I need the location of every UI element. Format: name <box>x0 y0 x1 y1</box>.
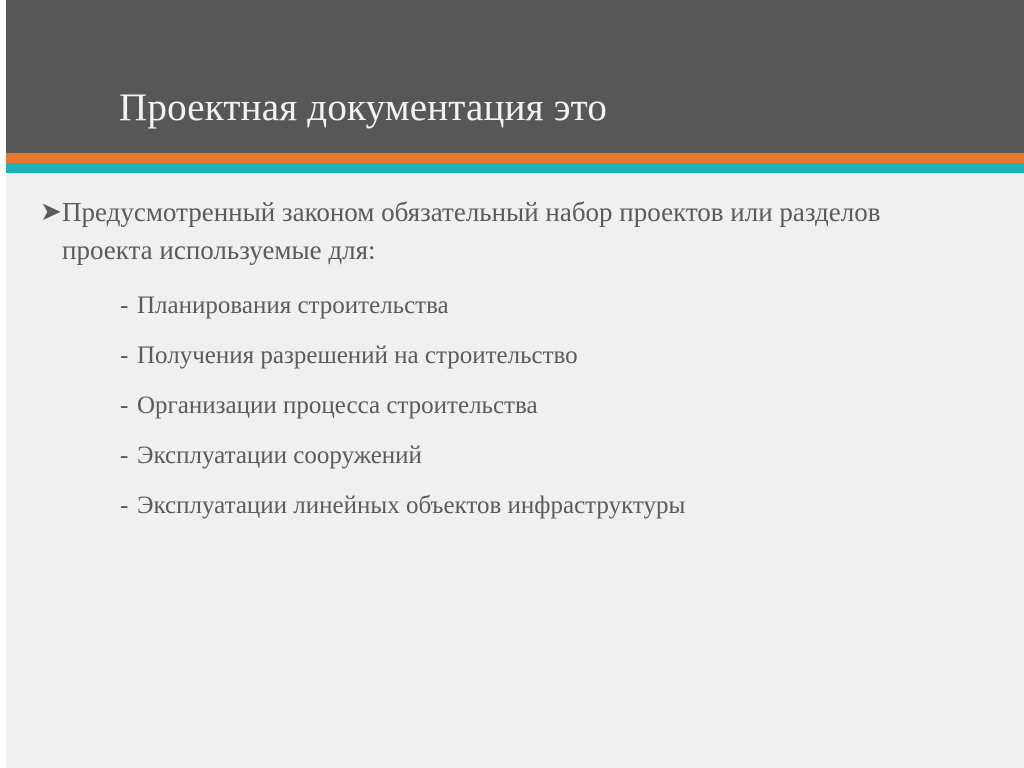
arrow-bullet-icon: ➤ <box>40 193 62 231</box>
slide-body: ➤ Предусмотренный законом обязательный н… <box>6 173 1024 768</box>
lead-bullet-text: Предусмотренный законом обязательный наб… <box>62 193 920 269</box>
dash-icon: - <box>120 331 137 381</box>
presentation-slide: Проектная документация это ➤ Предусмотре… <box>0 0 1024 768</box>
list-item-label: Эксплуатации сооружений <box>137 431 422 481</box>
dash-icon: - <box>120 431 137 481</box>
list-item: - Организации процесса строительства <box>120 381 940 431</box>
list-item: - Эксплуатации линейных объектов инфраст… <box>120 481 940 531</box>
list-item-label: Организации процесса строительства <box>137 381 538 431</box>
list-item-label: Получения разрешений на строительство <box>137 331 578 381</box>
list-item: - Получения разрешений на строительство <box>120 331 940 381</box>
dash-icon: - <box>120 481 137 531</box>
accent-rule-orange <box>6 153 1024 163</box>
dash-icon: - <box>120 381 137 431</box>
list-item-label: Планирования строительства <box>137 281 449 331</box>
list-item: - Эксплуатации сооружений <box>120 431 940 481</box>
accent-rule-teal <box>6 163 1024 173</box>
page-title: Проектная документация это <box>119 86 607 131</box>
list-item: - Планирования строительства <box>120 281 940 331</box>
list-item-label: Эксплуатации линейных объектов инфрастру… <box>137 481 685 531</box>
sub-bullet-list: - Планирования строительства - Получения… <box>120 281 940 531</box>
slide-title-text: Проектная документация это <box>119 86 607 129</box>
lead-bullet-item: ➤ Предусмотренный законом обязательный н… <box>40 193 920 269</box>
dash-icon: - <box>120 281 137 331</box>
